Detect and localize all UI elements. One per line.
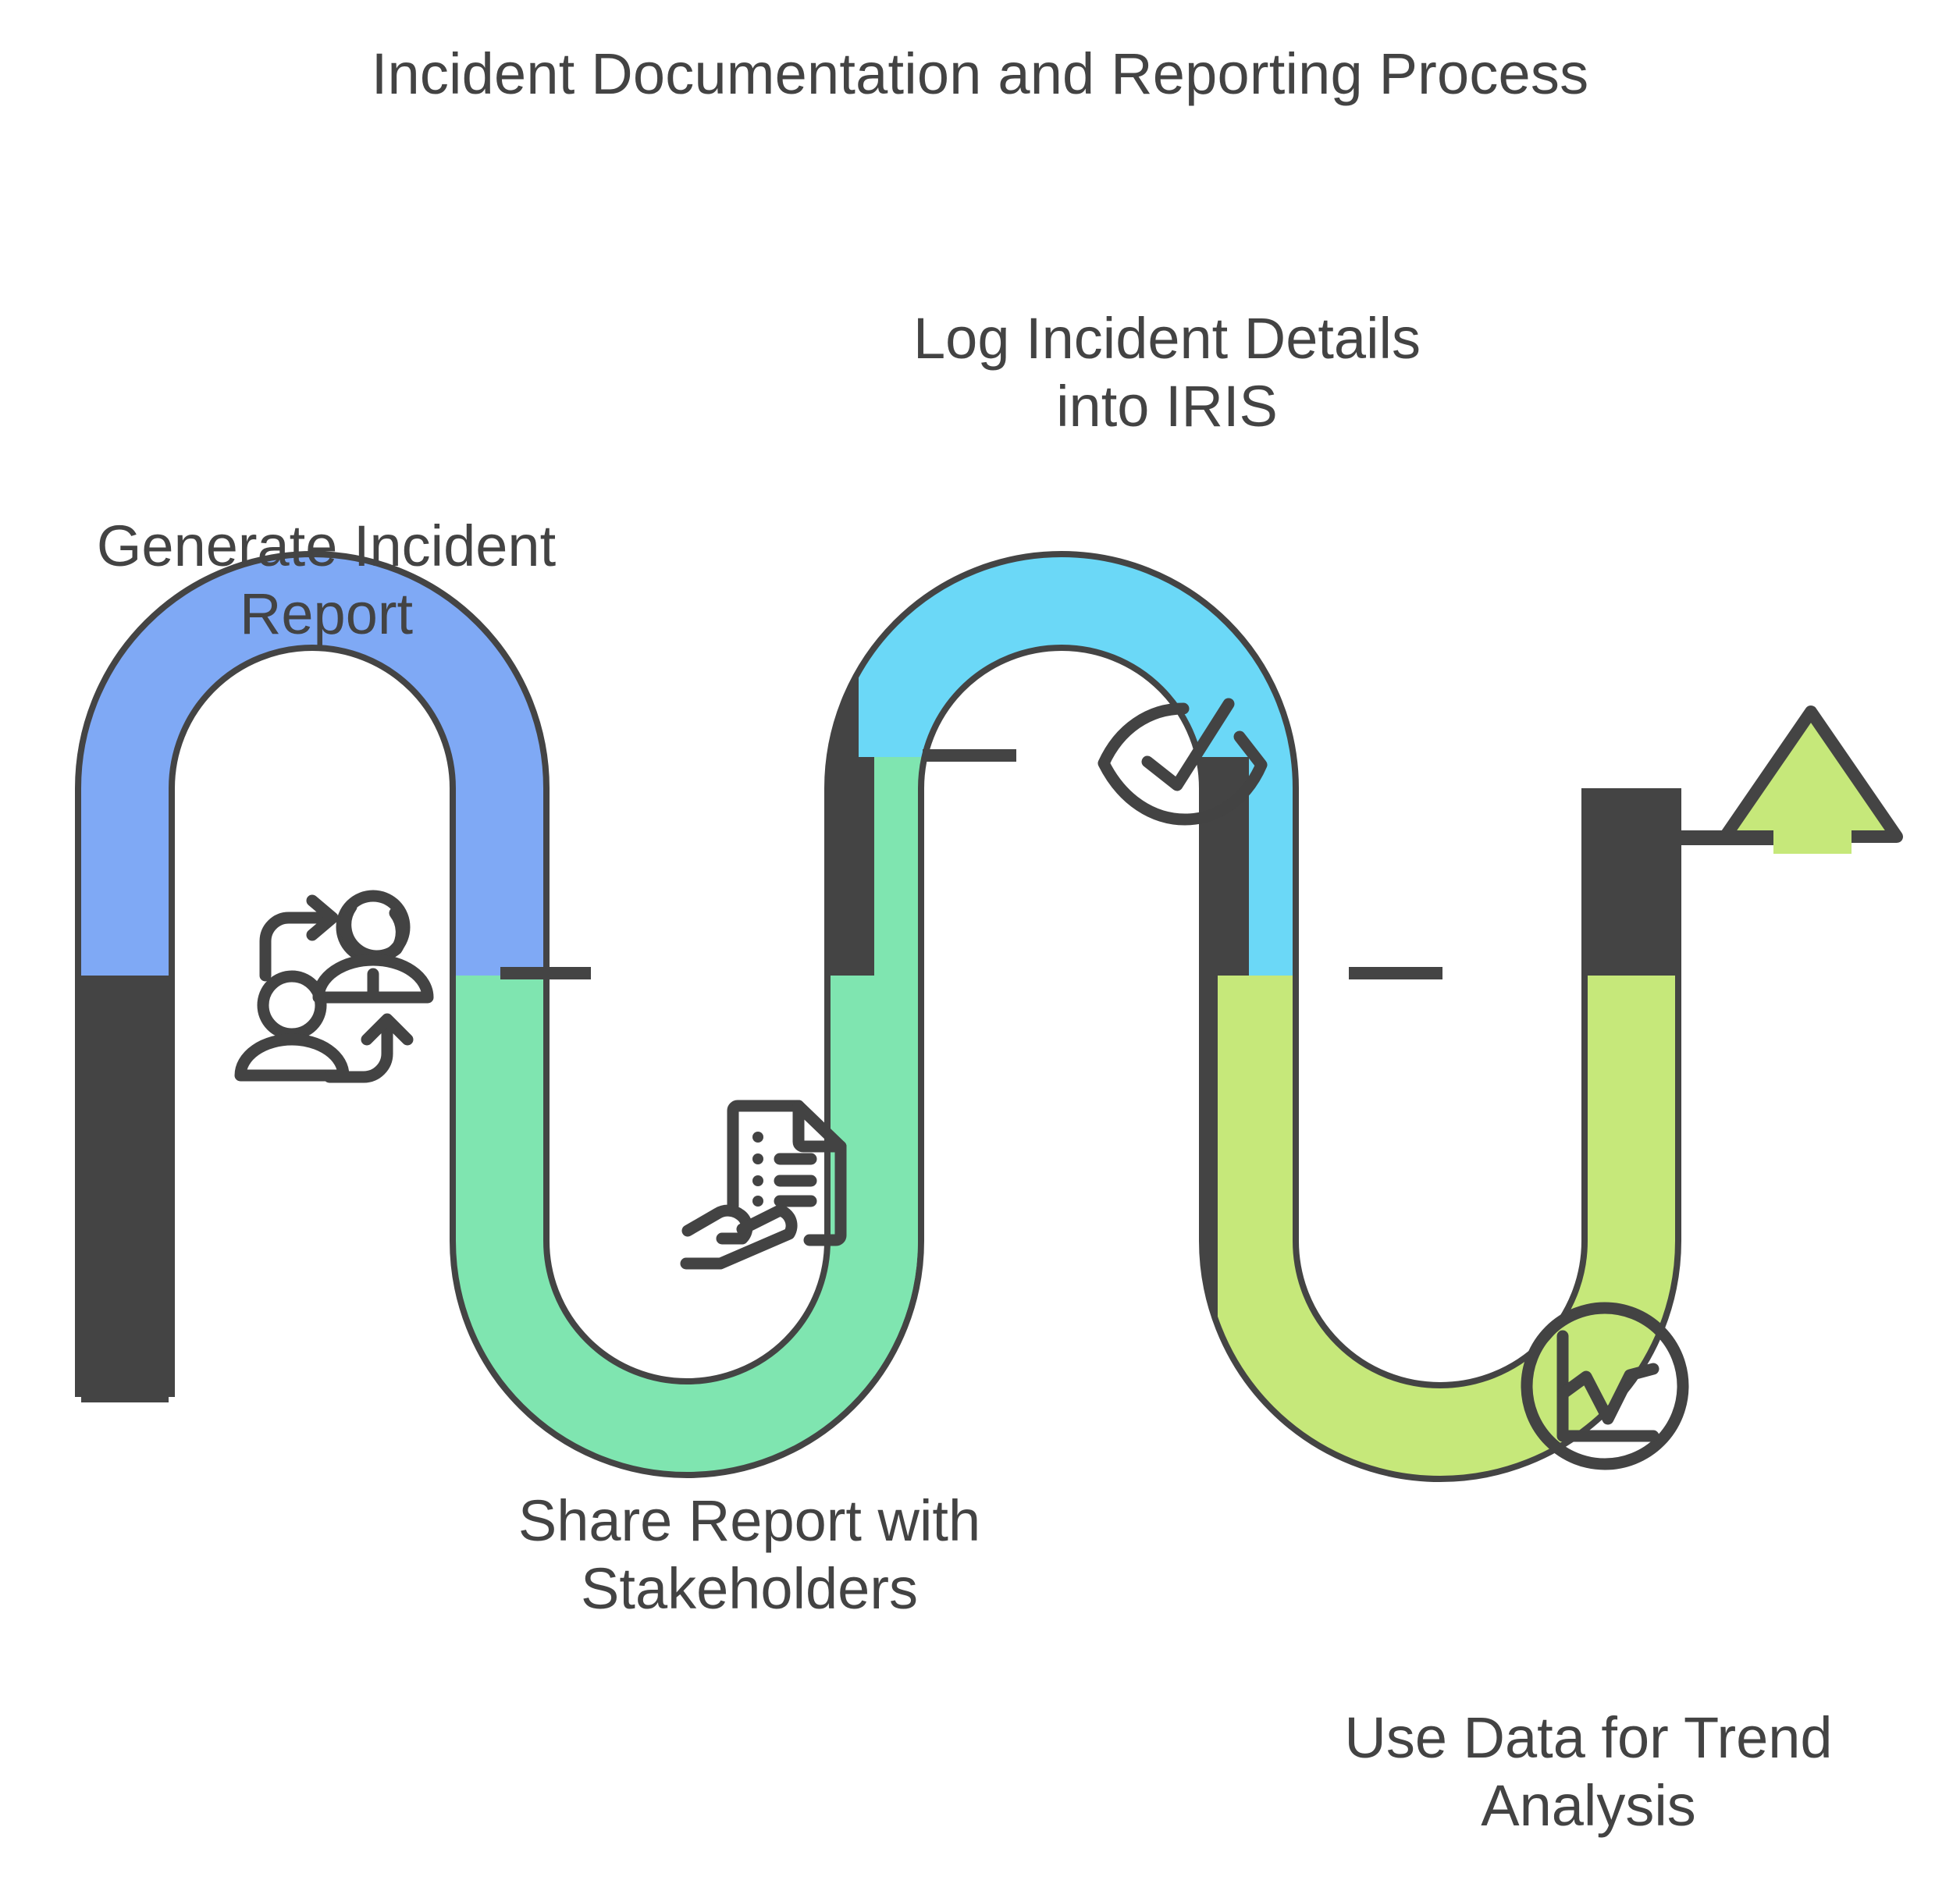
step-label-line: Log Incident Details bbox=[804, 304, 1530, 372]
step-label-line: Generate Incident bbox=[22, 512, 631, 580]
step-label-generate-report: Generate Incident Report bbox=[22, 512, 631, 649]
step-label-line: into IRIS bbox=[804, 372, 1530, 440]
step-label-line: Use Data for Trend bbox=[1249, 1704, 1928, 1772]
step-label-line: Stakeholders bbox=[414, 1555, 1085, 1623]
step-label-log-incident: Log Incident Details into IRIS bbox=[804, 304, 1530, 441]
step-label-line: Report bbox=[22, 580, 631, 648]
step-label-line: Share Report with bbox=[414, 1487, 1085, 1555]
step-label-trend-analysis: Use Data for Trend Analysis bbox=[1249, 1704, 1928, 1840]
step-label-share-report: Share Report with Stakeholders bbox=[414, 1487, 1085, 1623]
step-label-line: Analysis bbox=[1249, 1772, 1928, 1839]
diagram-canvas: Incident Documentation and Reporting Pro… bbox=[0, 0, 1960, 1898]
